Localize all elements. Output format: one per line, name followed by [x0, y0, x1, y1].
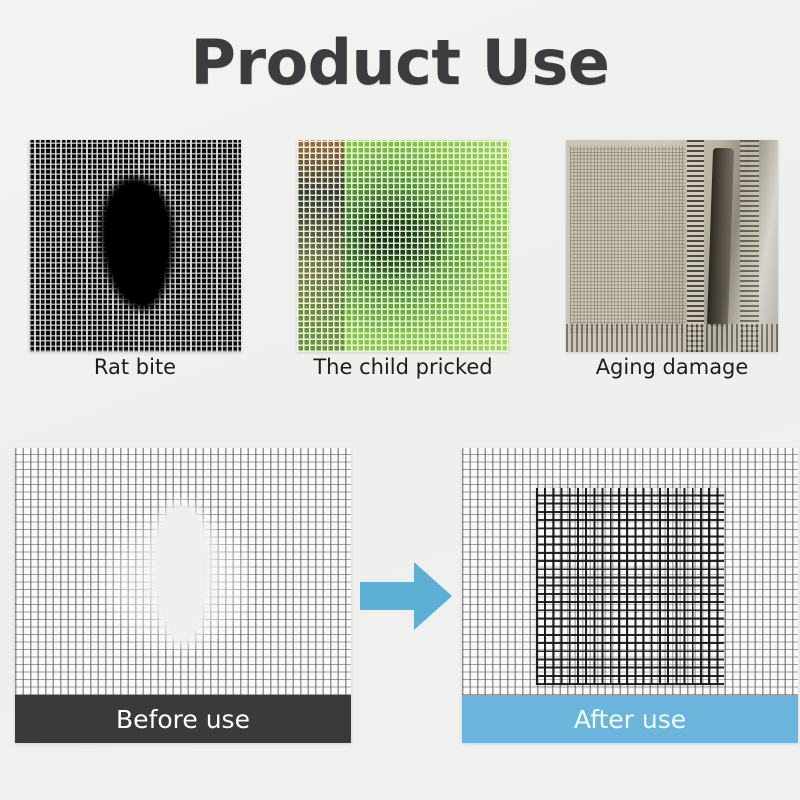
before-use-banner: Before use: [15, 695, 351, 743]
page-title: Product Use: [0, 26, 800, 99]
after-use-card: After use: [462, 448, 798, 743]
white-mesh-texture: [297, 140, 509, 352]
damage-example-caption: Aging damage: [536, 356, 800, 380]
rat-bite-photo: [29, 140, 241, 352]
before-use-photo: [15, 448, 351, 695]
damage-example-caption: The child pricked: [267, 356, 539, 380]
damage-example-aging-damage: Aging damage: [566, 140, 778, 352]
child-pricked-photo: [297, 140, 509, 352]
after-use-photo: [462, 448, 798, 695]
after-use-label: After use: [574, 705, 686, 734]
before-use-card: Before use: [15, 448, 351, 743]
damage-example-caption: Rat bite: [0, 356, 271, 380]
tan-mesh-texture: [570, 146, 684, 333]
repair-patch: [536, 488, 724, 686]
damage-example-rat-bite: Rat bite: [29, 140, 241, 352]
bottom-mesh-strip: [566, 324, 778, 352]
after-use-banner: After use: [462, 695, 798, 743]
damage-example-child-pricked: The child pricked: [297, 140, 509, 352]
aging-damage-photo: [566, 140, 778, 352]
before-use-label: Before use: [116, 705, 250, 734]
product-use-infographic: Product Use Rat bite The child pricked A…: [0, 0, 800, 800]
screen-frame-edge-outer: [740, 140, 759, 352]
right-arrow-icon: [360, 558, 452, 634]
screen-frame-edge: [687, 140, 704, 352]
